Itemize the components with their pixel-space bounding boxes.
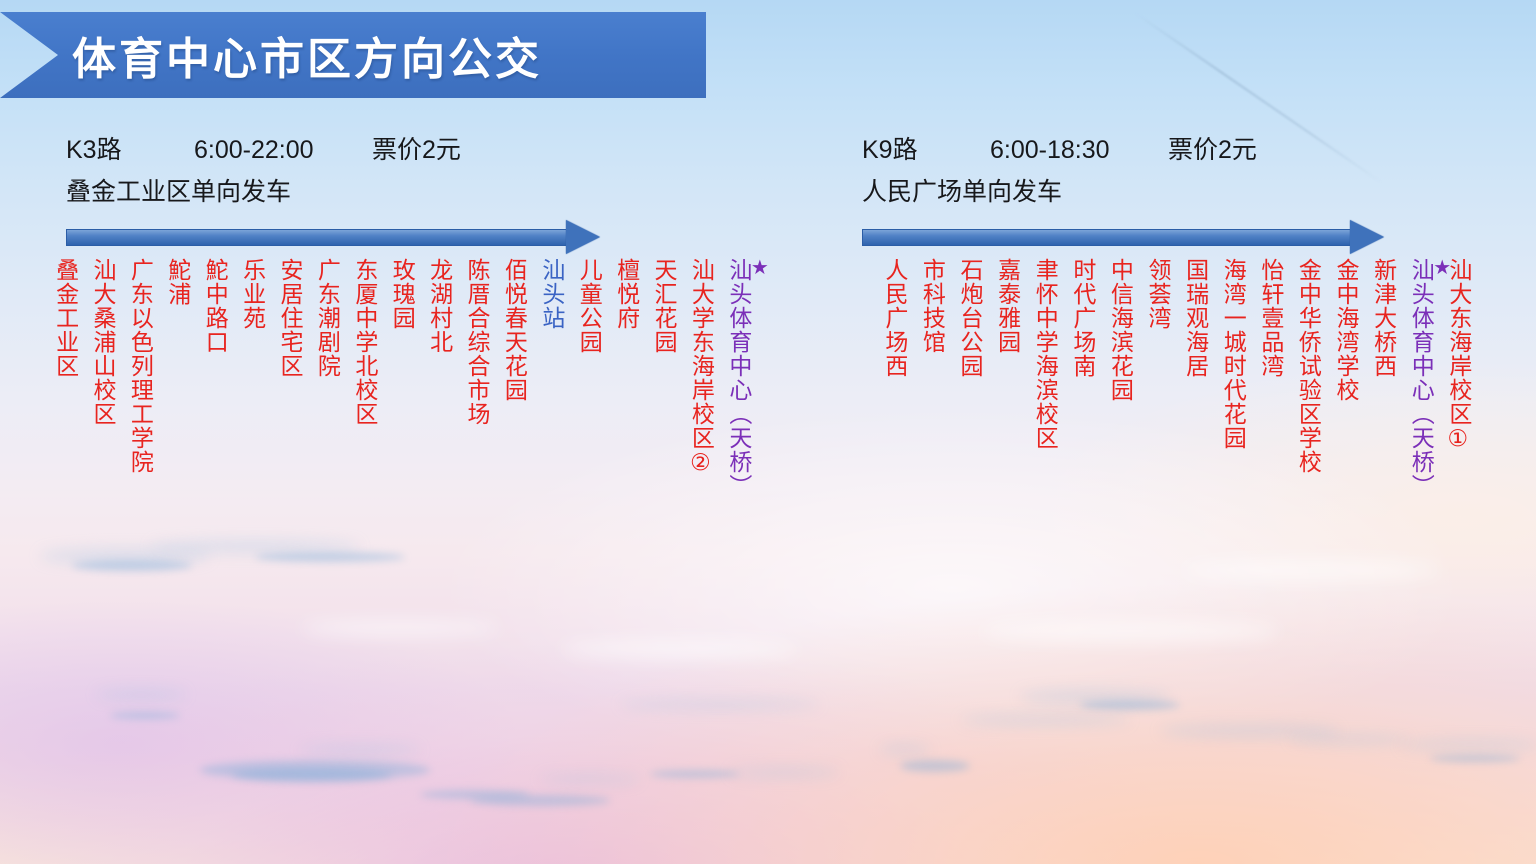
station-label: 人民广场西 bbox=[882, 258, 907, 378]
station-label: 新津大桥西 bbox=[1371, 258, 1396, 378]
cloud-wisp bbox=[540, 775, 640, 783]
station-label: 佰悦春天花园 bbox=[502, 258, 527, 402]
station-label: 檀悦府 bbox=[614, 258, 639, 330]
cloud-wisp bbox=[1080, 700, 1180, 710]
page-title: 体育中心市区方向公交 bbox=[72, 23, 542, 87]
route-hours-k9: 6:00-18:30 bbox=[990, 136, 1168, 165]
right-arrow-icon-head-k9 bbox=[1350, 220, 1384, 254]
cloud-wisp bbox=[470, 795, 610, 806]
station-label: 儿童公园 bbox=[576, 258, 601, 354]
route-name-k3: K3路 bbox=[66, 130, 194, 166]
station-label: 鮀浦 bbox=[165, 258, 190, 306]
cloud-wisp bbox=[730, 768, 840, 777]
station-label: 金中华侨试验区学校 bbox=[1296, 258, 1321, 474]
terminus-star-icon: ★ bbox=[751, 258, 770, 278]
route-fare-k3: 票价2元 bbox=[372, 130, 461, 166]
cloud-wisp bbox=[960, 715, 1130, 725]
station-list-k9: 人民广场西市科技馆石炮台公园嘉泰雅园聿怀中学海滨校区时代广场南中信海滨花园领荟湾… bbox=[862, 258, 1522, 658]
station-label: 东厦中学北校区 bbox=[352, 258, 377, 426]
station-label: 乐业苑 bbox=[240, 258, 265, 330]
station-label: 天汇花园 bbox=[651, 258, 676, 354]
station-label: ★汕头体育中心（天桥） bbox=[726, 258, 770, 498]
station-label: 广东潮剧院 bbox=[315, 258, 340, 378]
route-hours-k3: 6:00-22:00 bbox=[194, 136, 372, 165]
station-label: 汕大东海岸校区① bbox=[1446, 258, 1471, 453]
station-label: 陈厝合综合市场 bbox=[464, 258, 489, 426]
route-note-k9: 人民广场单向发车 bbox=[862, 172, 1522, 208]
station-name-text: 汕头体育中心（天桥） bbox=[1408, 258, 1434, 498]
route-name-k9: K9路 bbox=[862, 130, 990, 166]
station-label: 鮀中路口 bbox=[202, 258, 227, 354]
cloud-wisp bbox=[232, 768, 392, 782]
route-direction-arrow-k3 bbox=[66, 220, 796, 252]
right-arrow-icon-bar-k3 bbox=[66, 229, 568, 246]
cloud-wisp bbox=[1400, 740, 1536, 750]
cloud-wisp bbox=[650, 770, 740, 778]
station-label: 海湾一城时代花园 bbox=[1220, 258, 1245, 450]
station-label: 安居住宅区 bbox=[277, 258, 302, 378]
station-label: 怡轩壹品湾 bbox=[1258, 258, 1283, 378]
station-label: 汕头站 bbox=[539, 258, 564, 330]
station-label: 国瑞观海居 bbox=[1183, 258, 1208, 378]
cloud-wisp bbox=[900, 760, 970, 772]
cloud-wisp bbox=[96, 690, 186, 699]
route-direction-arrow-k9 bbox=[862, 220, 1522, 252]
station-label: 聿怀中学海滨校区 bbox=[1032, 258, 1057, 450]
cloud-wisp bbox=[880, 745, 930, 754]
cloud-wisp bbox=[1430, 755, 1520, 762]
route-header-k3: K3路 6:00-22:00 票价2元 bbox=[66, 130, 796, 166]
station-label: 金中海湾学校 bbox=[1333, 258, 1358, 402]
route-section-k3: K3路 6:00-22:00 票价2元 叠金工业区单向发车 叠金工业区汕大桑浦山… bbox=[66, 130, 796, 658]
station-label: 嘉泰雅园 bbox=[995, 258, 1020, 354]
station-label: 领荟湾 bbox=[1145, 258, 1170, 330]
station-label: 时代广场南 bbox=[1070, 258, 1095, 378]
station-label: 龙湖村北 bbox=[427, 258, 452, 354]
right-arrow-icon-bar-k9 bbox=[862, 229, 1352, 246]
station-label: 叠金工业区 bbox=[53, 258, 78, 378]
route-header-k9: K9路 6:00-18:30 票价2元 bbox=[862, 130, 1522, 166]
page-banner: 体育中心市区方向公交 bbox=[0, 12, 706, 98]
route-section-k9: K9路 6:00-18:30 票价2元 人民广场单向发车 人民广场西市科技馆石炮… bbox=[862, 130, 1522, 658]
station-label: 石炮台公园 bbox=[957, 258, 982, 378]
station-name-text: 汕头体育中心（天桥） bbox=[726, 258, 752, 498]
cloud-wisp bbox=[1290, 735, 1410, 744]
station-label: 汕大学东海岸校区② bbox=[689, 258, 714, 477]
station-label: 汕大桑浦山校区 bbox=[90, 258, 115, 426]
right-arrow-icon-head-k3 bbox=[566, 220, 600, 254]
cloud-wisp bbox=[110, 712, 180, 719]
route-fare-k9: 票价2元 bbox=[1168, 130, 1257, 166]
cloud-wisp bbox=[300, 745, 420, 755]
cloud-wisp bbox=[620, 700, 820, 709]
station-label: 市科技馆 bbox=[920, 258, 945, 354]
station-label: 玫瑰园 bbox=[389, 258, 414, 330]
station-label: 中信海滨花园 bbox=[1108, 258, 1133, 402]
station-list-k3: 叠金工业区汕大桑浦山校区广东以色列理工学院鮀浦鮀中路口乐业苑安居住宅区广东潮剧院… bbox=[66, 258, 796, 658]
route-note-k3: 叠金工业区单向发车 bbox=[66, 172, 796, 208]
station-label: 广东以色列理工学院 bbox=[128, 258, 153, 474]
